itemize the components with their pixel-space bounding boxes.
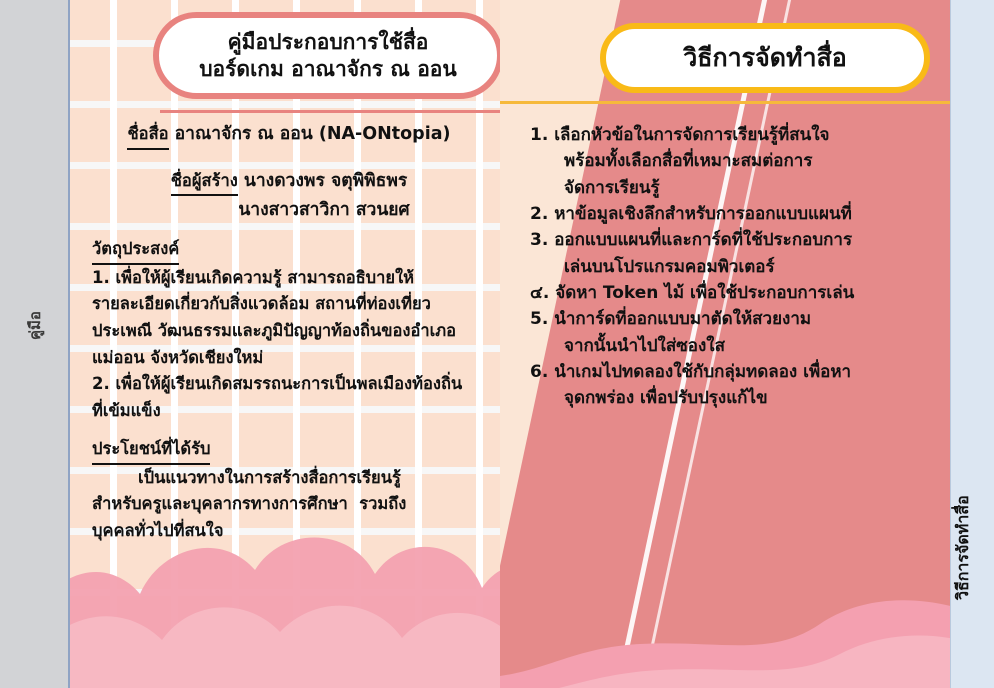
right-rail-label: วิธีการจัดทำสื่อ <box>950 455 994 645</box>
objective-1-line-3: ประเพณี วัฒนธรรมและภูมิปัญญาท้องถิ่นของอ… <box>92 318 486 345</box>
step-6-line-2: จุดกพร่อง เพื่อปรับปรุงแก้ไข <box>530 385 932 411</box>
step-5-line-2: จากนั้นนำไปใส่ซองใส <box>530 333 932 359</box>
step-1-line-2: พร้อมทั้งเลือกสื่อที่เหมาะสมต่อการ <box>530 148 932 174</box>
step-6-line-1: 6. นำเกมไปทดลองใช้กับกลุ่มทดลอง เพื่อหา <box>530 359 932 385</box>
creator-value-2: นางสาวสาวิกา สวนยศ <box>92 196 486 224</box>
right-title-text: วิธีการจัดทำสื่อ <box>683 38 847 78</box>
media-name-row: ชื่อสื่อ อาณาจักร ณ ออน (NA-ONtopia) <box>92 120 486 150</box>
spacer <box>92 425 486 435</box>
benefit-line-1: เป็นแนวทางในการสร้างสื่อการเรียนรู้ <box>92 465 486 492</box>
left-rail: คู่มือ <box>0 0 70 688</box>
right-slide-panel: วิธีการจัดทำสื่อ 1. เลือกหัวข้อในการจัดก… <box>500 0 950 688</box>
creator-label: ชื่อผู้สร้าง <box>171 168 238 197</box>
pink-wave-shape <box>500 528 950 688</box>
benefit-heading: ประโยชน์ที่ได้รับ <box>92 436 210 465</box>
spacer <box>92 150 486 167</box>
left-body-text: ชื่อสื่อ อาณาจักร ณ ออน (NA-ONtopia) ชื่… <box>70 120 500 545</box>
right-title-box: วิธีการจัดทำสื่อ <box>600 23 930 93</box>
step-1-line-1: 1. เลือกหัวข้อในการจัดการเรียนรู้ที่สนใจ <box>530 122 932 148</box>
creator-value: นางดวงพร จตุพิพิธพร <box>238 171 408 191</box>
benefit-heading-row: ประโยชน์ที่ได้รับ <box>92 435 486 465</box>
benefit-line-2: สำหรับครูและบุคลากรทางการศึกษา รวมถึง <box>92 491 486 518</box>
creator-row: ชื่อผู้สร้าง นางดวงพร จตุพิพิธพร <box>92 167 486 197</box>
orange-divider-rule <box>500 101 950 104</box>
step-5-line-1: 5. นำการ์ดที่ออกแบบมาตัดให้สวยงาม <box>530 306 932 332</box>
left-title-line1: คู่มือประกอบการใช้สื่อ <box>228 29 429 55</box>
media-name-label: ชื่อสื่อ <box>127 121 168 150</box>
left-title-line2: บอร์ดเกม อาณาจักร ณ ออน <box>199 56 457 82</box>
objective-heading: วัตถุประสงค์ <box>92 236 179 265</box>
objective-1-line-2: รายละเอียดเกี่ยวกับสิ่งแวดล้อม สถานที่ท่… <box>92 291 486 318</box>
objective-2-line-1: 2. เพื่อให้ผู้เรียนเกิดสมรรถนะการเป็นพลเ… <box>92 371 486 398</box>
step-4-line-1: ๔. จัดหา Token ไม้ เพื่อใช้ประกอบการเล่น <box>530 280 932 306</box>
right-rail: วิธีการจัดทำสื่อ <box>950 0 994 688</box>
pink-divider-rule <box>160 110 500 113</box>
objective-heading-row: วัตถุประสงค์ <box>92 235 486 265</box>
step-3-line-1: 3. ออกแบบแผนที่และการ์ดที่ใช้ประกอบการ <box>530 227 932 253</box>
right-body-text: 1. เลือกหัวข้อในการจัดการเรียนรู้ที่สนใจ… <box>500 122 950 412</box>
objective-2-line-2: ที่เข้มแข็ง <box>92 398 486 425</box>
objective-1-line-1: 1. เพื่อให้ผู้เรียนเกิดความรู้ สามารถอธิ… <box>92 265 486 292</box>
slide-canvas: คู่มือ คู่มือประกอบการใช้สื่อ บอร์ดเกม อ… <box>0 0 994 688</box>
benefit-line-3: บุคคลทั่วไปที่สนใจ <box>92 518 486 545</box>
left-title-box: คู่มือประกอบการใช้สื่อ บอร์ดเกม อาณาจักร… <box>153 12 500 99</box>
objective-1-line-4: แม่ออน จังหวัดเชียงใหม่ <box>92 345 486 372</box>
step-2-line-1: 2. หาข้อมูลเชิงลึกสำหรับการออกแบบแผนที่ <box>530 201 932 227</box>
left-rail-label: คู่มือ <box>0 286 70 366</box>
step-3-line-2: เล่นบนโปรแกรมคอมพิวเตอร์ <box>530 254 932 280</box>
left-slide-panel: คู่มือประกอบการใช้สื่อ บอร์ดเกม อาณาจักร… <box>70 0 500 688</box>
step-1-line-3: จัดการเรียนรู้ <box>530 175 932 201</box>
spacer <box>92 225 486 235</box>
media-name-value: อาณาจักร ณ ออน (NA-ONtopia) <box>169 124 451 144</box>
